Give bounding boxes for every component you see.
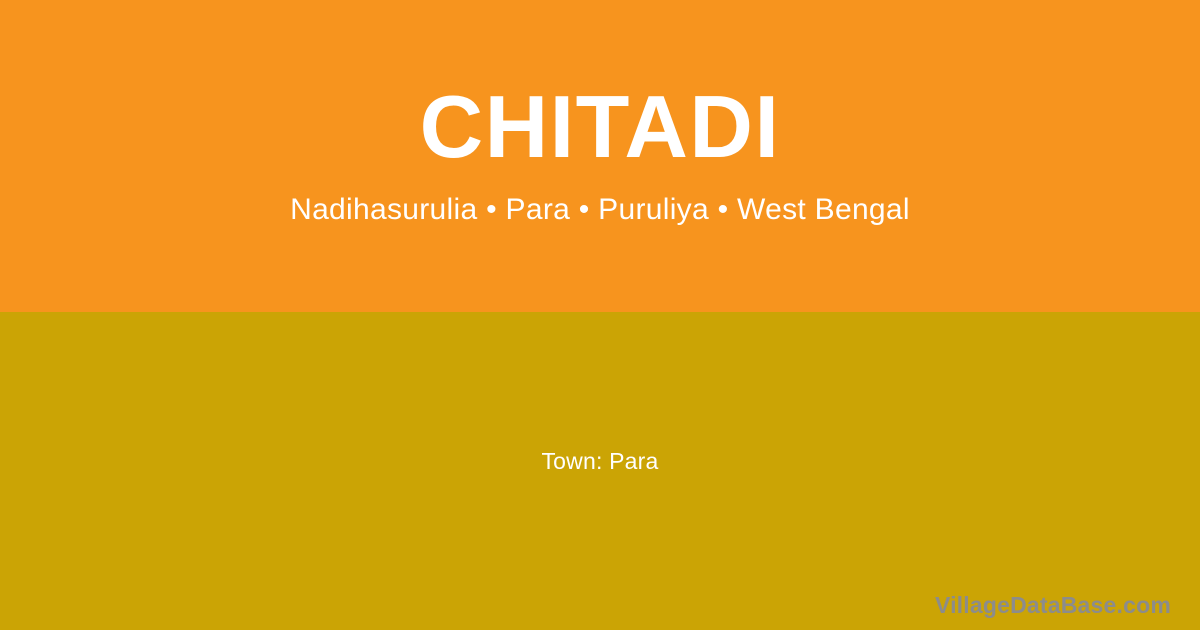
- breadcrumb: Nadihasurulia • Para • Puruliya • West B…: [290, 193, 910, 226]
- page-title: CHITADI: [420, 83, 781, 171]
- hero-banner: CHITADI Nadihasurulia • Para • Puruliya …: [0, 0, 1200, 312]
- town-detail: Town: Para: [541, 448, 658, 475]
- details-section: Town: Para VillageDataBase.com: [0, 312, 1200, 630]
- site-watermark: VillageDataBase.com: [935, 592, 1171, 619]
- village-info-card: CHITADI Nadihasurulia • Para • Puruliya …: [0, 0, 1200, 630]
